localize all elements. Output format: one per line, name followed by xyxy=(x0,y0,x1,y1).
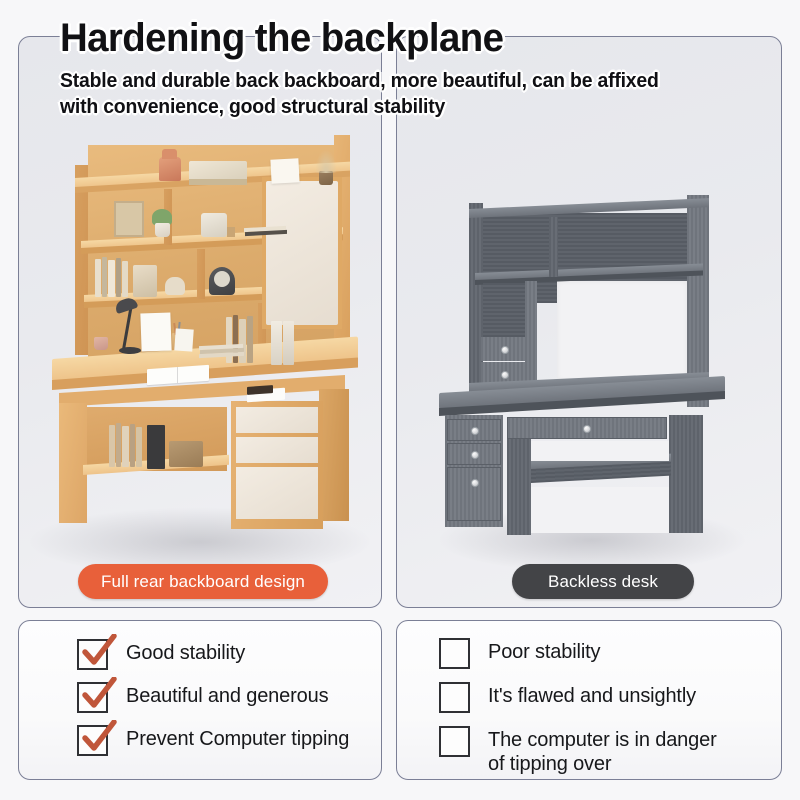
checklist-label: It's flawed and unsightly xyxy=(488,680,696,709)
checklist-label: Poor stability xyxy=(488,636,600,665)
drawer-knob xyxy=(471,451,479,459)
cabinet-door[interactable] xyxy=(266,181,338,325)
book xyxy=(122,261,128,297)
under-desk-opening-lower xyxy=(531,487,669,533)
gray-desk-illustration xyxy=(397,37,781,607)
open-notebook xyxy=(147,365,209,385)
checklist-label: Prevent Computer tipping xyxy=(126,723,349,752)
notebook-spine xyxy=(177,367,178,383)
checkbox-empty[interactable] xyxy=(439,726,470,757)
photo-frame xyxy=(114,201,144,237)
desk-clock xyxy=(201,213,227,237)
checklist-label: The computer is in danger of tipping ove… xyxy=(488,724,717,776)
drawer-knob xyxy=(501,371,509,379)
cabinet-knob xyxy=(471,479,479,487)
desk-right-side-panel xyxy=(669,415,703,533)
binder xyxy=(283,321,294,365)
checklist-item[interactable]: The computer is in danger of tipping ove… xyxy=(439,724,781,776)
drawer-2[interactable] xyxy=(236,437,318,463)
drawer-1[interactable] xyxy=(236,407,318,433)
clock-face xyxy=(214,271,230,287)
storage-box-lid xyxy=(189,161,247,181)
checklist-item[interactable]: It's flawed and unsightly xyxy=(439,680,781,713)
figurine xyxy=(165,277,185,295)
decor-vase xyxy=(159,157,181,181)
drawer-knob xyxy=(471,427,479,435)
desk-lamp-base xyxy=(119,347,141,354)
checklist-left: Good stability Beautiful and generous Pr… xyxy=(19,621,381,779)
check-icon xyxy=(80,634,118,670)
desk-inner-leg xyxy=(507,439,531,535)
checklist-item[interactable]: Prevent Computer tipping xyxy=(77,723,381,756)
hutch-left-upright xyxy=(75,165,88,355)
checkbox-checked[interactable] xyxy=(77,682,108,713)
desk-right-side-panel xyxy=(319,389,349,521)
checklist-item[interactable]: Poor stability xyxy=(439,636,781,669)
checklist-right: Poor stability It's flawed and unsightly… xyxy=(397,621,781,779)
under-desk-opening-upper xyxy=(531,441,669,461)
hutch-left-cubby xyxy=(483,283,525,339)
book xyxy=(247,316,253,363)
standing-calendar xyxy=(270,158,299,183)
desk-cabinet-door[interactable] xyxy=(447,467,501,521)
badge-full-rear-backboard-design[interactable]: Full rear backboard design xyxy=(78,564,328,599)
book xyxy=(116,423,121,467)
book xyxy=(109,425,115,467)
decor-vase-neck xyxy=(162,149,177,159)
pinned-note xyxy=(140,312,171,351)
plant-pot xyxy=(155,223,170,237)
badge-backless-desk[interactable]: Backless desk xyxy=(512,564,694,599)
check-icon xyxy=(80,720,118,756)
dried-grass xyxy=(315,149,337,173)
magazine-file xyxy=(147,425,165,469)
book xyxy=(130,424,135,467)
checklist-item[interactable]: Beautiful and generous xyxy=(77,680,381,713)
clock-stand xyxy=(227,227,235,237)
book xyxy=(108,260,115,297)
drawer-3[interactable] xyxy=(236,467,318,519)
desk-left-leg xyxy=(59,403,87,523)
check-icon xyxy=(80,677,118,713)
product-image-panel-left xyxy=(18,36,382,608)
book xyxy=(102,257,107,297)
hutch-divider-top xyxy=(549,217,558,277)
woven-basket xyxy=(169,441,203,467)
drawer-knob xyxy=(583,425,591,433)
missing-backboard-opening xyxy=(557,281,687,381)
dried-grass-pot xyxy=(319,171,333,185)
storage-box xyxy=(133,265,157,297)
checklist-label: Beautiful and generous xyxy=(126,680,328,709)
book xyxy=(136,427,142,467)
pinned-note-small xyxy=(174,328,193,351)
product-image-panel-right xyxy=(396,36,782,608)
checklist-label: Good stability xyxy=(126,637,245,666)
book xyxy=(239,319,246,363)
binder xyxy=(271,321,282,365)
checkbox-checked[interactable] xyxy=(77,639,108,670)
checklist-panel-left: Good stability Beautiful and generous Pr… xyxy=(18,620,382,780)
storage-box-base xyxy=(189,179,247,185)
book xyxy=(116,258,121,297)
checklist-item[interactable]: Good stability xyxy=(77,637,381,670)
drawer-knob xyxy=(501,346,509,354)
book xyxy=(95,259,101,297)
coffee-mug xyxy=(94,337,108,350)
checkbox-empty[interactable] xyxy=(439,682,470,713)
checkbox-empty[interactable] xyxy=(439,638,470,669)
hutch-divider-b xyxy=(197,249,205,299)
checklist-panel-right: Poor stability It's flawed and unsightly… xyxy=(396,620,782,780)
wooden-desk-illustration xyxy=(19,37,381,607)
checkbox-checked[interactable] xyxy=(77,725,108,756)
book xyxy=(122,426,129,467)
